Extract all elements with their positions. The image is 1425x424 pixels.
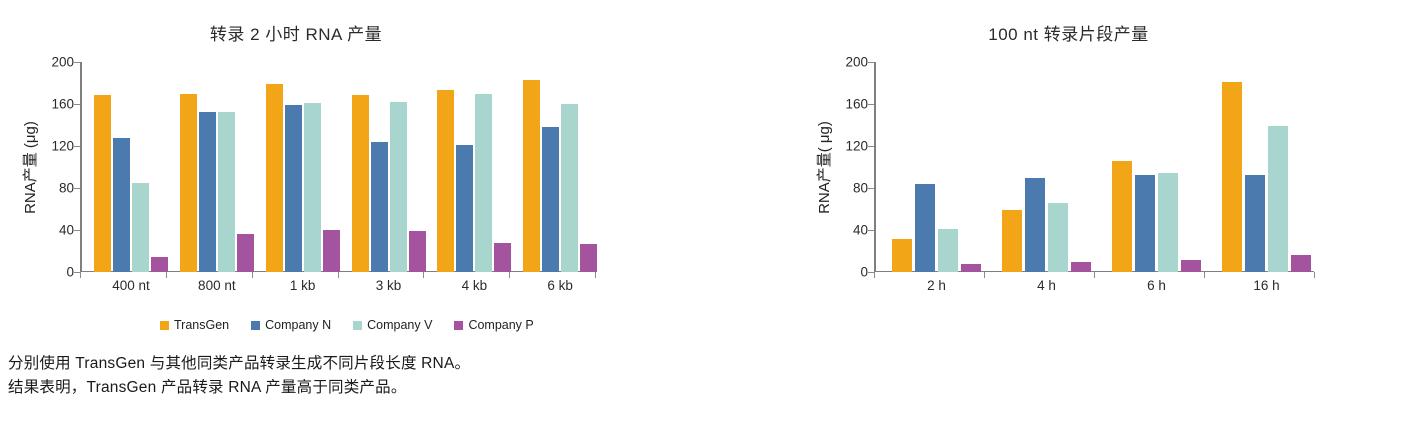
y-tick-label: 0 xyxy=(66,265,74,280)
bar-company-n xyxy=(199,112,216,272)
bar-company-v xyxy=(1158,173,1178,272)
y-tick-label: 80 xyxy=(853,181,868,196)
x-tick-mark xyxy=(509,272,510,278)
bar-groups-right: 2 h4 h6 h16 h xyxy=(874,62,1314,272)
y-tick-label: 80 xyxy=(59,181,74,196)
bar-transgen xyxy=(266,84,283,272)
y-tick-label: 40 xyxy=(853,223,868,238)
bar-company-n xyxy=(371,142,388,272)
x-tick-mark xyxy=(1094,272,1095,278)
bar-company-n xyxy=(542,127,559,272)
chart-title-left: 转录 2 小时 RNA 产量 xyxy=(0,20,652,45)
chart-panel-right: 100 nt 转录片段产量 RNA产量( μg) 04080120160200 … xyxy=(712,0,1425,414)
bar-company-v xyxy=(1048,203,1068,272)
x-tick-mark xyxy=(338,272,339,278)
x-tick-label: 1 kb xyxy=(290,278,316,293)
bar-transgen xyxy=(1222,82,1242,272)
x-tick-label: 6 kb xyxy=(547,278,573,293)
y-axis-ticks-right: 04080120160200 xyxy=(830,62,874,272)
y-tick-label: 160 xyxy=(845,97,868,112)
bar-group: 4 h xyxy=(984,62,1094,272)
figure-page: 转录 2 小时 RNA 产量 RNA产量 (μg) 04080120160200… xyxy=(0,0,1425,414)
bar-company-n xyxy=(1025,178,1045,273)
caption-line: 结果表明，TransGen 产品转录 RNA 产量高于同类产品。 xyxy=(8,376,568,400)
bar-group: 800 nt xyxy=(166,62,252,272)
bar-group: 6 h xyxy=(1094,62,1204,272)
x-tick-label: 16 h xyxy=(1253,278,1279,293)
bar-group: 2 h xyxy=(874,62,984,272)
caption-left: 分别使用 TransGen 与其他同类产品转录生成不同片段长度 RNA。结果表明… xyxy=(8,352,568,400)
bar-company-v xyxy=(938,229,958,272)
x-tick-mark xyxy=(80,272,81,278)
y-tick-label: 160 xyxy=(51,97,74,112)
bar-transgen xyxy=(180,94,197,273)
legend-swatch-icon xyxy=(454,321,463,330)
bar-transgen xyxy=(1002,210,1022,272)
x-tick-mark xyxy=(423,272,424,278)
legend-item-transgen[interactable]: TransGen xyxy=(160,318,229,332)
bar-company-p xyxy=(580,244,597,272)
bar-transgen xyxy=(437,90,454,272)
bar-company-p xyxy=(1291,255,1311,272)
y-axis-ticks-left: 04080120160200 xyxy=(36,62,80,272)
bar-group: 400 nt xyxy=(80,62,166,272)
y-tick-label: 0 xyxy=(860,265,868,280)
bar-company-v xyxy=(390,102,407,272)
plot-area-right: RNA产量( μg) 04080120160200 2 h4 h6 h16 h xyxy=(812,62,1332,294)
y-tick-label: 200 xyxy=(845,55,868,70)
y-tick-label: 120 xyxy=(845,139,868,154)
legend-swatch-icon xyxy=(353,321,362,330)
bar-transgen xyxy=(94,95,111,272)
x-tick-label: 6 h xyxy=(1147,278,1166,293)
x-tick-label: 4 h xyxy=(1037,278,1056,293)
x-tick-label: 400 nt xyxy=(112,278,150,293)
bar-company-v xyxy=(475,94,492,273)
x-tick-mark xyxy=(595,272,596,278)
legend-item-company-n[interactable]: Company N xyxy=(251,318,331,332)
bar-company-n xyxy=(285,105,302,272)
x-tick-mark xyxy=(166,272,167,278)
bar-company-p xyxy=(1181,260,1201,272)
legend-item-company-p[interactable]: Company P xyxy=(454,318,533,332)
bar-transgen xyxy=(352,95,369,272)
legend-swatch-icon xyxy=(160,321,169,330)
x-tick-mark xyxy=(984,272,985,278)
bar-company-p xyxy=(1071,262,1091,273)
x-tick-label: 4 kb xyxy=(462,278,488,293)
bar-company-n xyxy=(1245,175,1265,272)
x-tick-mark xyxy=(252,272,253,278)
bar-company-v xyxy=(132,183,149,272)
y-tick-label: 40 xyxy=(59,223,74,238)
bar-company-v xyxy=(561,104,578,272)
legend-label: TransGen xyxy=(174,318,229,332)
x-tick-label: 3 kb xyxy=(376,278,402,293)
bar-transgen xyxy=(1112,161,1132,272)
bar-company-n xyxy=(1135,175,1155,272)
bar-company-n xyxy=(915,184,935,272)
caption-line: 分别使用 TransGen 与其他同类产品转录生成不同片段长度 RNA。 xyxy=(8,352,568,376)
y-tick-label: 200 xyxy=(51,55,74,70)
x-tick-label: 800 nt xyxy=(198,278,236,293)
bar-company-v xyxy=(304,103,321,272)
x-tick-mark xyxy=(1314,272,1315,278)
legend-label: Company P xyxy=(468,318,533,332)
bar-groups-left: 400 nt800 nt1 kb3 kb4 kb6 kb xyxy=(80,62,595,272)
chart-panel-left: 转录 2 小时 RNA 产量 RNA产量 (μg) 04080120160200… xyxy=(0,0,712,414)
bar-company-n xyxy=(113,138,130,272)
legend-label: Company N xyxy=(265,318,331,332)
bar-transgen xyxy=(523,80,540,272)
y-tick-label: 120 xyxy=(51,139,74,154)
bar-group: 16 h xyxy=(1204,62,1314,272)
bar-group: 3 kb xyxy=(338,62,424,272)
bar-group: 1 kb xyxy=(252,62,338,272)
legend-swatch-icon xyxy=(251,321,260,330)
bar-company-v xyxy=(1268,126,1288,272)
bar-company-p xyxy=(961,264,981,272)
bar-transgen xyxy=(892,239,912,272)
legend-label: Company V xyxy=(367,318,432,332)
bar-company-v xyxy=(218,112,235,272)
bar-group: 6 kb xyxy=(509,62,595,272)
x-tick-label: 2 h xyxy=(927,278,946,293)
legend-item-company-v[interactable]: Company V xyxy=(353,318,432,332)
chart-title-right: 100 nt 转录片段产量 xyxy=(712,20,1425,45)
x-tick-mark xyxy=(1204,272,1205,278)
bar-group: 4 kb xyxy=(423,62,509,272)
legend-left: TransGenCompany NCompany VCompany P xyxy=(160,318,534,332)
bar-company-n xyxy=(456,145,473,272)
plot-area-left: RNA产量 (μg) 04080120160200 400 nt800 nt1 … xyxy=(18,62,598,294)
x-tick-mark xyxy=(874,272,875,278)
